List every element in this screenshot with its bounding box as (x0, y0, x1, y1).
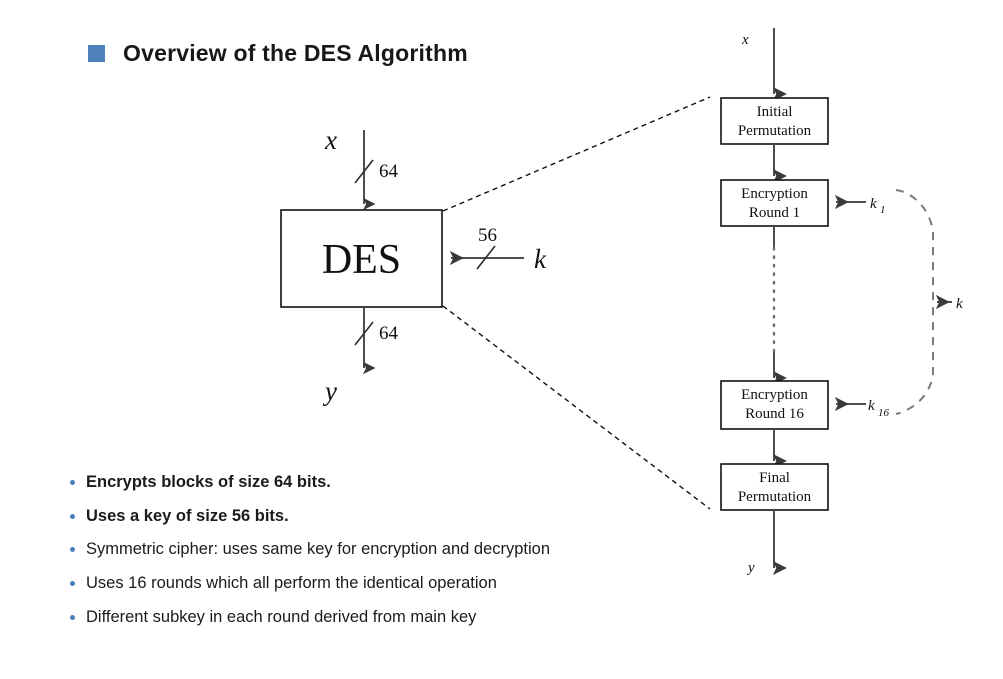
des-diagram: x 64 DES 56 k 64 y x (0, 0, 1003, 679)
flow-box-encryption-round-16-line2: Round 16 (745, 406, 804, 422)
expansion-line-top (443, 97, 710, 211)
expansion-line-bottom (443, 306, 710, 509)
block-key-var-label: k (534, 244, 547, 274)
flow-box-final-permutation-line2: Permutation (738, 489, 812, 505)
flow-input-var-label: x (741, 32, 749, 48)
flow-subkey-1-label: k (870, 196, 877, 212)
des-flowchart: x Initial Permutation Encryption Round 1… (721, 28, 963, 576)
flow-output-var-label: y (746, 560, 755, 576)
flow-box-initial-permutation-line2: Permutation (738, 123, 812, 139)
flow-box-encryption-round-16-line1: Encryption (741, 387, 808, 403)
flow-box-initial-permutation-line1: Initial (757, 104, 793, 120)
flow-subkey-1-sublabel: 1 (880, 204, 886, 216)
flow-box-encryption-round-1-line1: Encryption (741, 186, 808, 202)
flow-main-key-label: k (956, 296, 963, 312)
flow-box-encryption-round-1-line2: Round 1 (749, 205, 800, 221)
key-schedule-bracket (896, 190, 933, 414)
flow-subkey-16-label: k (868, 398, 875, 414)
block-input-var-label: x (324, 125, 337, 155)
slide-canvas: Overview of the DES Algorithm Encrypts b… (0, 0, 1003, 679)
des-block-diagram: x 64 DES 56 k 64 y (281, 125, 547, 406)
des-box-label: DES (322, 237, 401, 283)
flow-box-final-permutation-line1: Final (759, 470, 790, 486)
block-output-var-label: y (322, 376, 337, 406)
flow-subkey-16-sublabel: 16 (878, 407, 890, 419)
block-input-width-label: 64 (379, 161, 399, 182)
block-output-width-label: 64 (379, 323, 399, 344)
block-key-width-label: 56 (478, 225, 497, 246)
